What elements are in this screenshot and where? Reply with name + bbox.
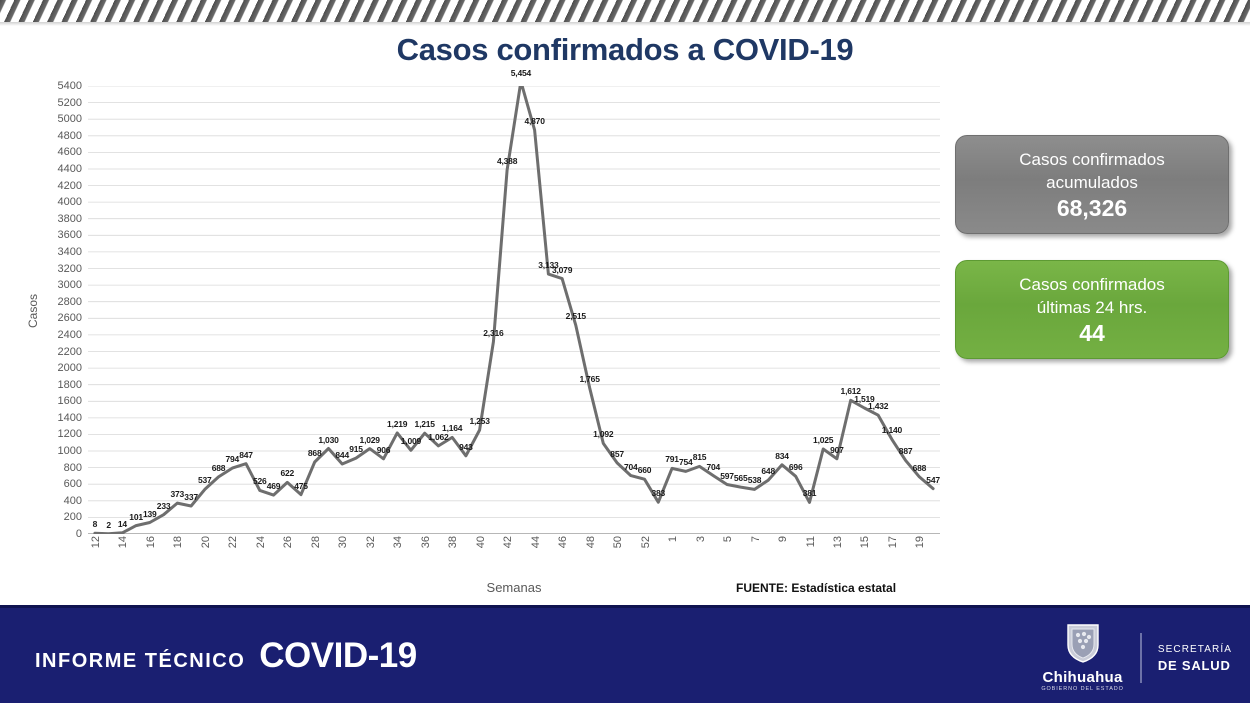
banner-covid-19: COVID-19 [259,636,416,676]
y-tick-label: 5200 [38,97,82,109]
y-tick-label: 2600 [38,312,82,324]
data-label: 337 [184,492,198,502]
data-label: 1,432 [868,401,888,411]
data-label: 868 [308,448,322,458]
source-note: FUENTE: Estadística estatal [736,581,896,595]
data-label: 381 [803,488,817,498]
data-label: 696 [789,462,803,472]
x-tick-label: 16 [145,536,157,548]
x-tick-label: 24 [255,536,267,548]
y-tick-label: 4800 [38,130,82,142]
data-label: 887 [899,446,913,456]
data-label: 1,009 [401,436,421,446]
chihuahua-shield-icon [1066,623,1100,668]
y-tick-label: 4400 [38,163,82,175]
y-tick-label: 3600 [38,229,82,241]
page-title: Casos confirmados a COVID-19 [0,32,1250,68]
card-24hrs-line1: Casos confirmados [1019,273,1165,296]
data-label: 526 [253,476,267,486]
x-tick-label: 40 [475,536,487,548]
data-label: 2,515 [566,311,586,321]
x-tick-label: 7 [750,536,762,542]
data-label: 475 [294,481,308,491]
data-label: 1,219 [387,419,407,429]
x-tick-label: 42 [502,536,514,548]
y-tick-label: 1000 [38,445,82,457]
y-tick-label: 3200 [38,263,82,275]
data-label: 537 [198,475,212,485]
data-label: 754 [679,457,693,467]
data-label: 565 [734,473,748,483]
data-label: 704 [624,462,638,472]
data-label: 1,253 [469,416,489,426]
salud-line2: DE SALUD [1158,658,1232,674]
x-tick-label: 5 [722,536,734,542]
x-tick-label: 20 [200,536,212,548]
banner-title-group: INFORME TÉCNICO COVID-19 [35,636,417,676]
data-label: 469 [267,481,281,491]
card-acumulados-line1: Casos confirmados [1019,148,1165,171]
data-label: 943 [459,442,473,452]
x-tick-label: 19 [914,536,926,548]
x-tick-label: 36 [420,536,432,548]
y-tick-label: 1600 [38,395,82,407]
data-label: 5,454 [511,68,531,78]
x-tick-label: 32 [365,536,377,548]
y-axis-tick-labels: 5400520050004800460044004200400038003600… [30,86,82,534]
x-tick-label: 13 [832,536,844,548]
chart-plot-area: 8214101139233373337537688794847526469622… [88,86,940,534]
x-tick-label: 15 [859,536,871,548]
data-label: 1,164 [442,423,462,433]
x-tick-label: 38 [447,536,459,548]
x-tick-label: 52 [640,536,652,548]
data-label: 373 [171,489,185,499]
x-tick-label: 26 [282,536,294,548]
data-label: 1,030 [318,435,338,445]
data-label: 906 [377,445,391,455]
y-tick-label: 3400 [38,246,82,258]
y-tick-label: 2400 [38,329,82,341]
y-tick-label: 2200 [38,346,82,358]
chihuahua-subtitle: GOBIERNO DEL ESTADO [1041,686,1124,692]
y-tick-label: 400 [38,495,82,507]
chihuahua-wordmark: Chihuahua [1042,669,1122,686]
data-label: 1,092 [593,429,613,439]
banner-informe-tecnico: INFORME TÉCNICO [35,650,245,673]
data-label: 622 [281,468,295,478]
data-label: 915 [349,444,363,454]
x-tick-label: 50 [612,536,624,548]
data-label: 688 [913,463,927,473]
data-label: 688 [212,463,226,473]
x-axis-tick-labels: 1214161820222426283032343638404244464850… [88,536,940,578]
x-tick-label: 12 [90,536,102,548]
secretaria-de-salud-logo: SECRETARÍA DE SALUD [1158,642,1232,674]
data-label: 704 [707,462,721,472]
y-tick-label: 1200 [38,428,82,440]
data-label: 1,140 [882,425,902,435]
card-acumulados-line2: acumulados [1046,171,1138,194]
data-label: 1,029 [360,435,380,445]
data-label: 857 [610,449,624,459]
y-tick-label: 2800 [38,296,82,308]
data-label: 648 [761,466,775,476]
x-tick-label: 28 [310,536,322,548]
data-label: 1,062 [428,432,448,442]
y-tick-label: 600 [38,478,82,490]
x-tick-label: 18 [172,536,184,548]
data-label: 791 [665,454,679,464]
chart-container: Casos 5400520050004800460044004200400038… [30,78,940,548]
salud-line1: SECRETARÍA [1158,642,1232,658]
card-casos-acumulados: Casos confirmados acumulados 68,326 [955,135,1229,234]
data-label: 844 [335,450,349,460]
y-tick-label: 0 [38,528,82,540]
data-label: 834 [775,451,789,461]
stripe-band-shadow [0,22,1250,26]
bottom-banner: INFORME TÉCNICO COVID-19 Chihuahua GOBIE… [0,605,1250,703]
data-label: 8 [93,519,98,529]
card-acumulados-value: 68,326 [1057,194,1127,222]
x-tick-label: 46 [557,536,569,548]
x-tick-label: 48 [585,536,597,548]
card-24hrs-line2: últimas 24 hrs. [1037,296,1148,319]
x-tick-label: 3 [695,536,707,542]
data-label: 847 [239,450,253,460]
x-tick-label: 11 [805,536,817,547]
data-label: 1,025 [813,435,833,445]
data-label: 547 [926,475,940,485]
data-label: 907 [830,445,844,455]
x-tick-label: 44 [530,536,542,548]
banner-top-edge [0,605,1250,608]
data-label: 597 [720,471,734,481]
data-label: 660 [638,465,652,475]
y-tick-label: 4600 [38,146,82,158]
x-tick-label: 34 [392,536,404,548]
y-tick-label: 1400 [38,412,82,424]
data-label: 4,388 [497,156,517,166]
x-tick-label: 14 [117,536,129,548]
banner-logo-group: Chihuahua GOBIERNO DEL ESTADO SECRETARÍA… [1041,623,1232,692]
card-casos-ultimas-24hrs: Casos confirmados últimas 24 hrs. 44 [955,260,1229,359]
data-label: 1,215 [415,419,435,429]
x-tick-label: 30 [337,536,349,548]
data-label: 538 [748,475,762,485]
data-label: 4,870 [524,116,544,126]
decorative-stripe-band [0,0,1250,22]
y-tick-label: 3000 [38,279,82,291]
data-label: 233 [157,501,171,511]
x-tick-label: 9 [777,536,789,542]
data-label: 383 [652,488,666,498]
data-label: 1,765 [579,374,599,384]
y-tick-label: 200 [38,511,82,523]
y-tick-label: 4000 [38,196,82,208]
x-tick-label: 22 [227,536,239,548]
chihuahua-government-logo: Chihuahua GOBIERNO DEL ESTADO [1041,623,1124,692]
data-label: 2 [106,520,111,530]
card-24hrs-value: 44 [1079,319,1105,347]
x-tick-label: 1 [667,536,679,542]
y-tick-label: 2000 [38,362,82,374]
data-label: 14 [118,519,127,529]
data-label: 794 [226,454,240,464]
data-label: 2,316 [483,328,503,338]
data-label: 101 [129,512,143,522]
y-tick-label: 1800 [38,379,82,391]
y-tick-label: 4200 [38,180,82,192]
y-tick-label: 800 [38,462,82,474]
logo-divider [1140,633,1142,683]
x-tick-label: 17 [887,536,899,548]
y-tick-label: 3800 [38,213,82,225]
data-label: 815 [693,452,707,462]
data-label: 3,079 [552,265,572,275]
y-tick-label: 5400 [38,80,82,92]
y-tick-label: 5000 [38,113,82,125]
data-label: 139 [143,509,157,519]
